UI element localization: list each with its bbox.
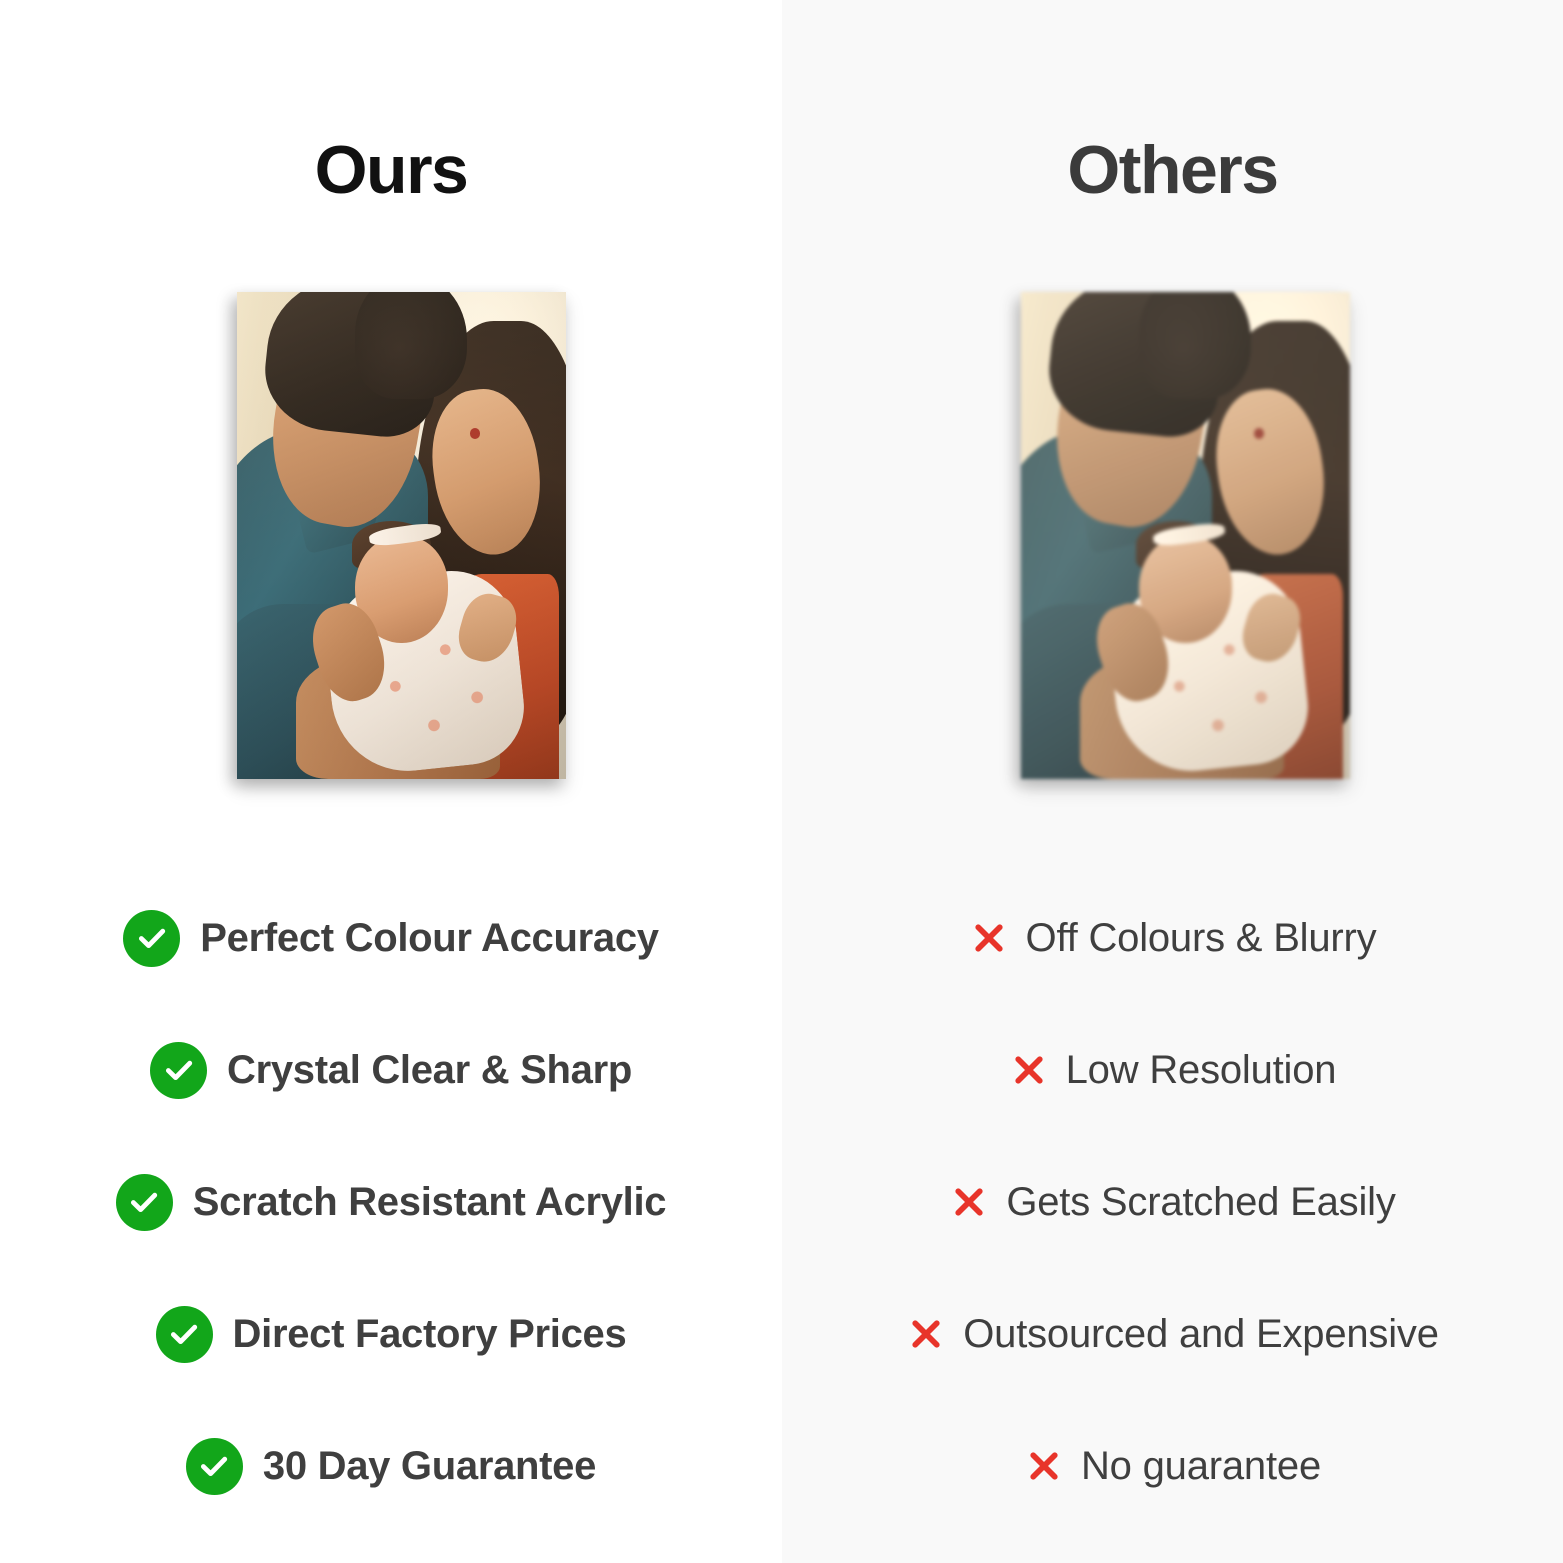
list-item: Outsourced and Expensive (782, 1268, 1563, 1400)
photo-warm-tint (1021, 292, 1350, 779)
photo-warm-tint (237, 292, 566, 779)
check-circle-icon (156, 1306, 213, 1363)
others-panel: Others (782, 0, 1563, 1563)
check-circle-icon (150, 1042, 207, 1099)
cross-mark-icon (1009, 1050, 1049, 1090)
others-heading: Others (782, 136, 1563, 204)
list-item-label: Outsourced and Expensive (963, 1312, 1439, 1356)
list-item-label: Scratch Resistant Acrylic (193, 1180, 666, 1224)
cross-mark-icon (949, 1182, 989, 1222)
ours-photo-frame (237, 292, 566, 779)
list-item-label: Gets Scratched Easily (1006, 1180, 1395, 1224)
ours-product-photo (237, 292, 566, 779)
list-item-label: Low Resolution (1066, 1048, 1337, 1092)
list-item: Off Colours & Blurry (782, 872, 1563, 1004)
list-item: 30 Day Guarantee (0, 1400, 782, 1532)
others-photo-frame (1021, 292, 1350, 779)
list-item: Gets Scratched Easily (782, 1136, 1563, 1268)
family-portrait-scene (237, 292, 566, 779)
list-item: No guarantee (782, 1400, 1563, 1532)
cross-mark-icon (969, 918, 1009, 958)
cross-mark-icon (906, 1314, 946, 1354)
check-circle-icon (123, 910, 180, 967)
cross-mark-icon (1024, 1446, 1064, 1486)
ours-feature-list: Perfect Colour Accuracy Crystal Clear & … (0, 872, 782, 1532)
check-circle-icon (186, 1438, 243, 1495)
list-item-label: 30 Day Guarantee (263, 1444, 596, 1488)
list-item: Crystal Clear & Sharp (0, 1004, 782, 1136)
others-product-photo (1021, 292, 1350, 779)
list-item-label: Crystal Clear & Sharp (227, 1048, 632, 1092)
list-item-label: No guarantee (1081, 1444, 1321, 1488)
ours-heading: Ours (0, 136, 782, 204)
list-item: Direct Factory Prices (0, 1268, 782, 1400)
comparison-board: Ours (0, 0, 1563, 1563)
list-item-label: Off Colours & Blurry (1026, 916, 1377, 960)
list-item: Perfect Colour Accuracy (0, 872, 782, 1004)
list-item-label: Perfect Colour Accuracy (200, 916, 658, 960)
list-item: Scratch Resistant Acrylic (0, 1136, 782, 1268)
family-portrait-scene (1021, 292, 1350, 779)
ours-panel: Ours (0, 0, 782, 1563)
others-feature-list: Off Colours & Blurry Low Resolution Gets… (782, 872, 1563, 1532)
list-item-label: Direct Factory Prices (233, 1312, 627, 1356)
check-circle-icon (116, 1174, 173, 1231)
list-item: Low Resolution (782, 1004, 1563, 1136)
